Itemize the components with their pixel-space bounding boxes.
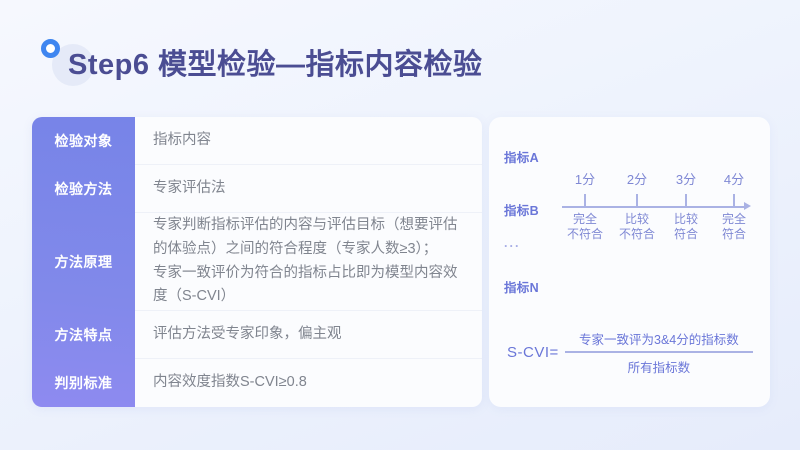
page-header: Step6 模型检验—指标内容检验 <box>38 32 483 92</box>
table-row: 专家判断指标评估的内容与评估目标（想要评估 的体验点）之间的符合程度（专家人数≥… <box>135 213 482 311</box>
table-row-label: 方法特点 <box>32 311 135 359</box>
table-row-label: 判别标准 <box>32 359 135 407</box>
axis-tick <box>685 194 687 207</box>
scale-diagram-card: 指标A 指标B ... 指标N 1分 2分 3分 4分 完全 不符合 比较 不符… <box>489 117 770 407</box>
formula-denominator: 所有指标数 <box>565 353 753 376</box>
table-value-column: 指标内容 专家评估法 专家判断指标评估的内容与评估目标（想要评估 的体验点）之间… <box>135 117 482 407</box>
indicator-label-n: 指标N <box>504 277 539 296</box>
formula-fraction: 专家一致评为3&4分的指标数 所有指标数 <box>565 329 753 376</box>
scale-description: 完全 符合 <box>722 212 746 242</box>
table-row: 内容效度指数S-CVI≥0.8 <box>135 359 482 407</box>
scale-description: 比较 不符合 <box>619 212 655 242</box>
axis-tick <box>636 194 638 207</box>
info-table-card: 检验对象 检验方法 方法原理 方法特点 判别标准 指标内容 专家评估法 专家判断… <box>32 117 482 407</box>
scvi-formula: S-CVI= 专家一致评为3&4分的指标数 所有指标数 <box>507 329 753 376</box>
axis-tick <box>733 194 735 207</box>
formula-numerator: 专家一致评为3&4分的指标数 <box>565 329 753 351</box>
table-row-value: 专家评估法 <box>153 177 226 201</box>
scale-score: 4分 <box>724 169 744 188</box>
indicator-label-ellipsis: ... <box>504 236 520 250</box>
indicator-label-b: 指标B <box>504 200 539 219</box>
scale-score: 3分 <box>676 169 696 188</box>
table-row-label: 检验方法 <box>32 165 135 213</box>
axis-line <box>562 206 747 208</box>
table-row-label: 检验对象 <box>32 117 135 165</box>
ring-circle-icon <box>41 39 60 58</box>
table-row-value: 内容效度指数S-CVI≥0.8 <box>153 371 307 395</box>
scale-score: 1分 <box>575 169 595 188</box>
rating-scale-axis: 1分 2分 3分 4分 完全 不符合 比较 不符合 比较 符合 完全 符合 <box>562 167 758 257</box>
scale-description: 完全 不符合 <box>567 212 603 242</box>
table-row: 评估方法受专家印象，偏主观 <box>135 311 482 359</box>
table-row-value: 指标内容 <box>153 129 211 153</box>
axis-arrow-icon <box>744 202 751 210</box>
axis-tick <box>584 194 586 207</box>
table-row-value: 评估方法受专家印象，偏主观 <box>153 323 342 347</box>
table-row: 指标内容 <box>135 117 482 165</box>
table-row: 专家评估法 <box>135 165 482 213</box>
table-row-value: 专家判断指标评估的内容与评估目标（想要评估 的体验点）之间的符合程度（专家人数≥… <box>153 214 458 310</box>
table-row-label: 方法原理 <box>32 213 135 311</box>
scale-description: 比较 符合 <box>674 212 698 242</box>
formula-lhs: S-CVI= <box>507 344 565 361</box>
indicator-label-a: 指标A <box>504 147 539 166</box>
page-title: Step6 模型检验—指标内容检验 <box>68 41 483 83</box>
scale-score: 2分 <box>627 169 647 188</box>
table-label-column: 检验对象 检验方法 方法原理 方法特点 判别标准 <box>32 117 135 407</box>
